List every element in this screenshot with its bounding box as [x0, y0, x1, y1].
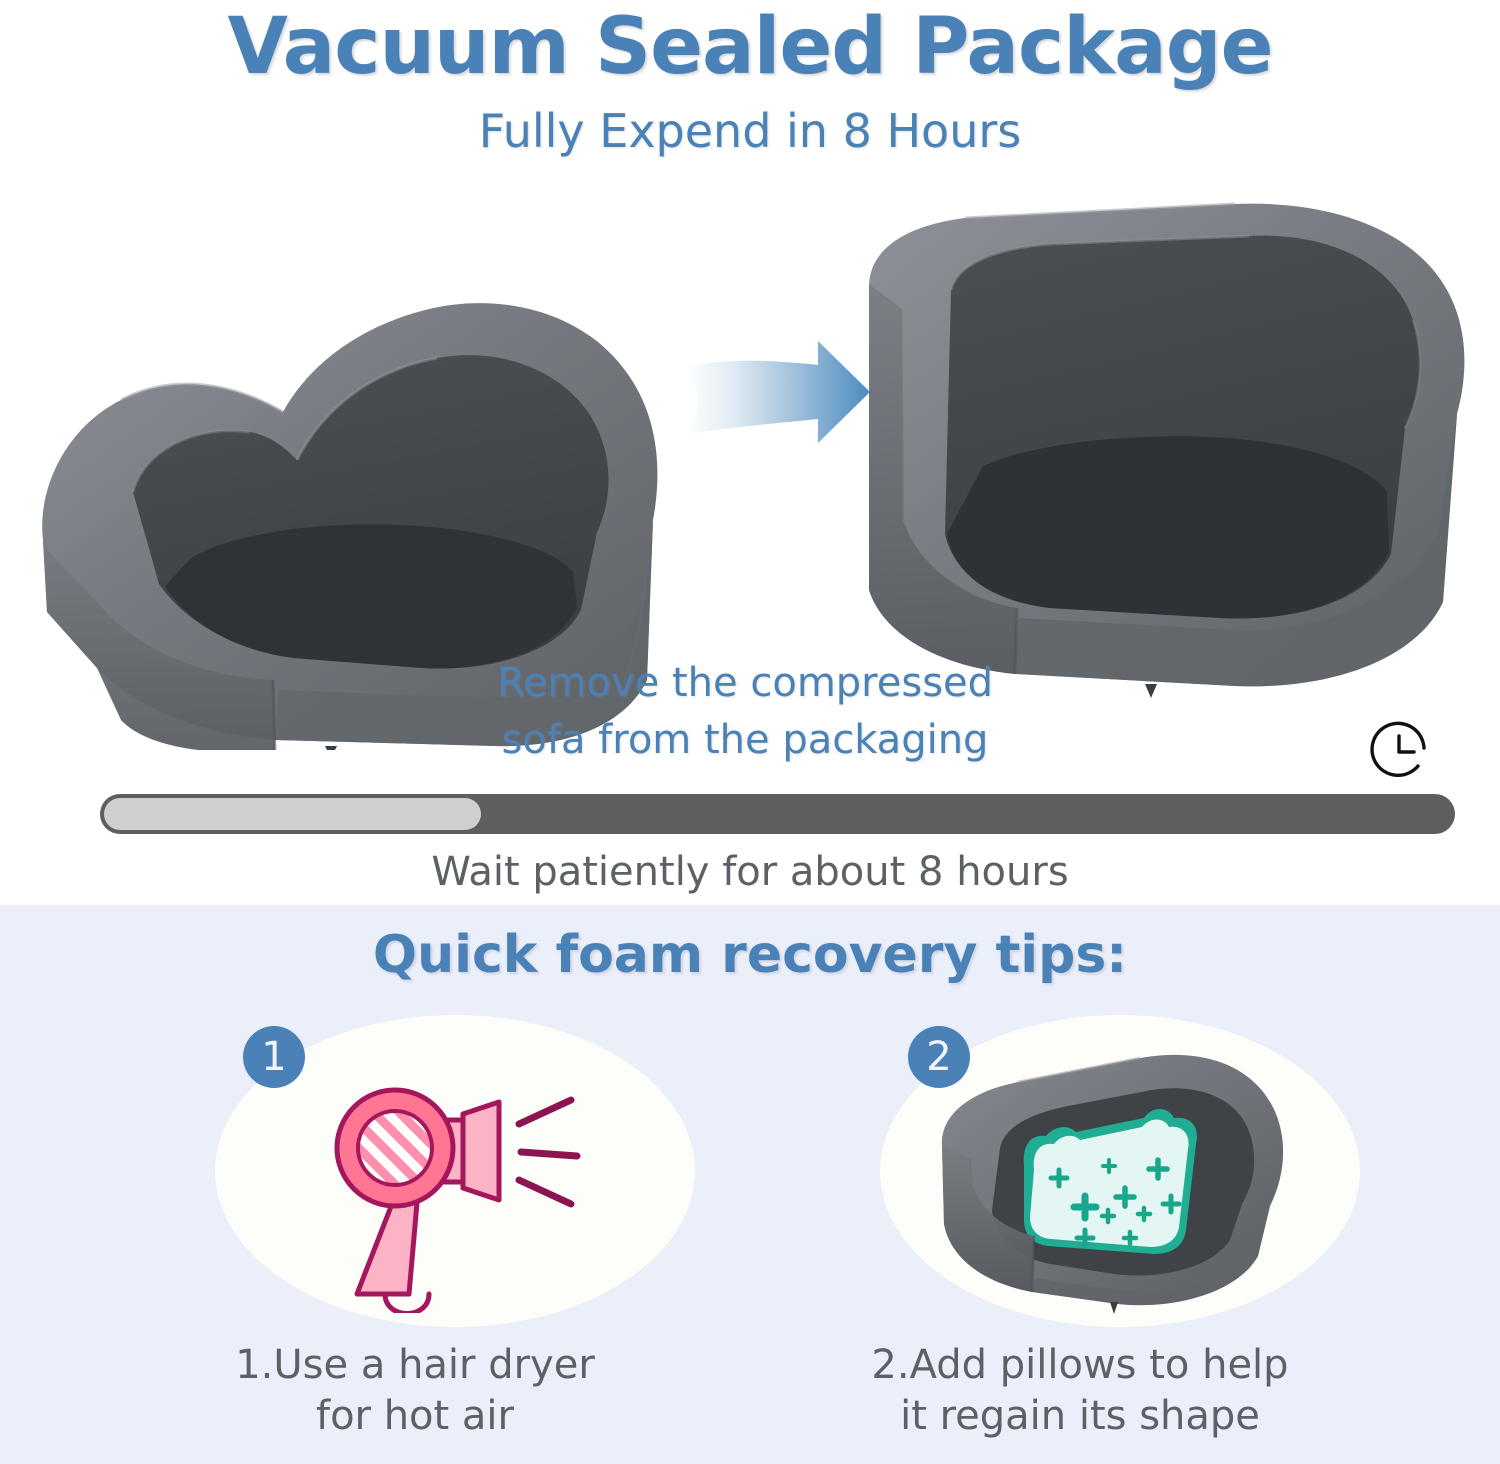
tip-card-2: 2	[760, 1010, 1400, 1460]
top-section: Vacuum Sealed Package Fully Expend in 8 …	[0, 0, 1500, 905]
tip-badge-2: 2	[908, 1026, 970, 1088]
progress-bar-fill	[104, 798, 481, 830]
infographic-page: Vacuum Sealed Package Fully Expend in 8 …	[0, 0, 1500, 1464]
tip-caption-1-line1: 1.Use a hair dryer	[95, 1340, 735, 1391]
expanded-sofa-image	[855, 198, 1480, 728]
right-arrow-icon	[680, 335, 875, 450]
tip-badge-1: 1	[243, 1026, 305, 1088]
wait-caption: Wait patiently for about 8 hours	[0, 849, 1500, 895]
tips-section: Quick foam recovery tips: 1	[0, 905, 1500, 1464]
sofa-with-pillow-icon	[928, 1030, 1308, 1320]
clock-icon	[1366, 718, 1432, 784]
tip-caption-2-line2: it regain its shape	[760, 1391, 1400, 1442]
tip-caption-2: 2.Add pillows to help it regain its shap…	[760, 1340, 1400, 1442]
tip-caption-1-line2: for hot air	[95, 1391, 735, 1442]
tips-section-title: Quick foam recovery tips:	[0, 925, 1500, 985]
hair-dryer-icon	[323, 1068, 623, 1313]
tip-card-1: 1	[95, 1010, 735, 1460]
page-title: Vacuum Sealed Package	[0, 2, 1500, 92]
tip-caption-2-line1: 2.Add pillows to help	[760, 1340, 1400, 1391]
progress-bar-track[interactable]	[100, 794, 1455, 834]
page-subtitle: Fully Expend in 8 Hours	[0, 104, 1500, 158]
remove-sofa-caption: Remove the compressed sofa from the pack…	[465, 655, 1025, 769]
tip-caption-1: 1.Use a hair dryer for hot air	[95, 1340, 735, 1442]
